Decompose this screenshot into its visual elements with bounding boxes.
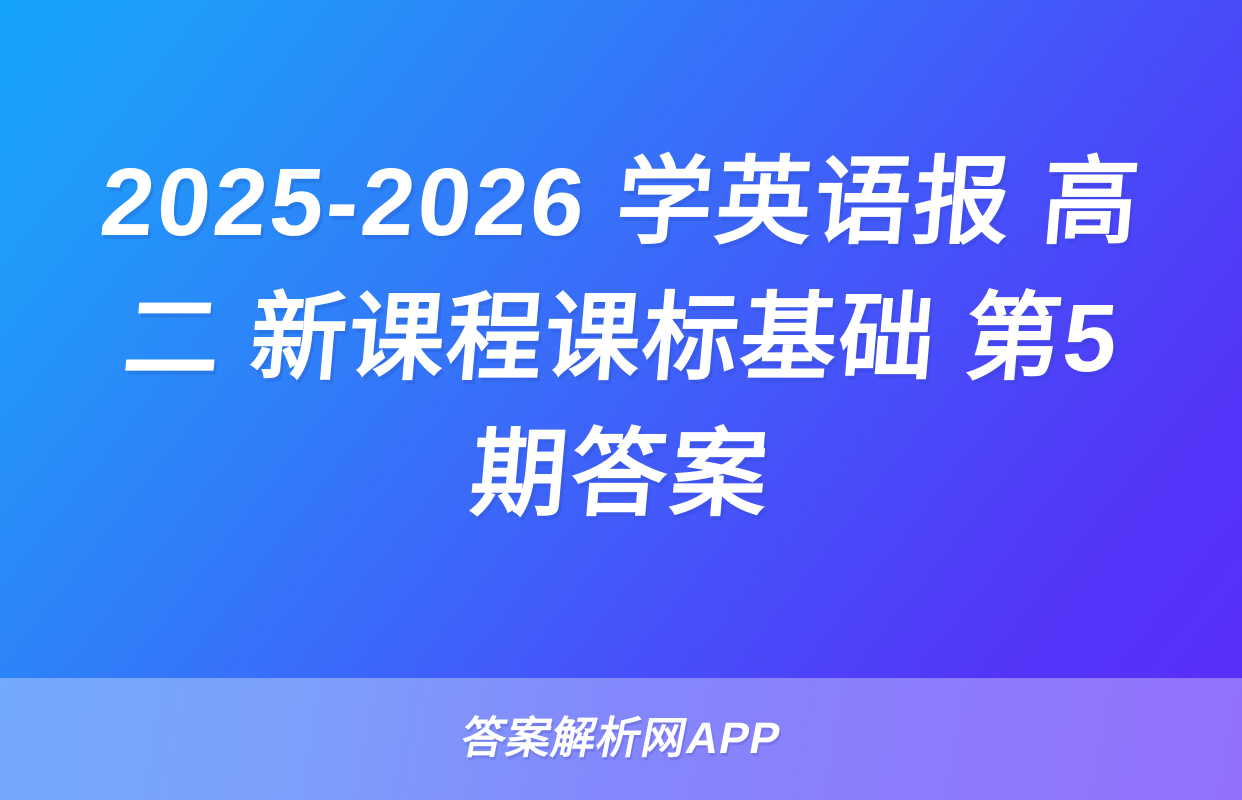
banner-title-line-1: 2025-2026 学英语报 高 [95, 135, 1147, 271]
banner-title-block: 2025-2026 学英语报 高 二 新课程课标基础 第5 期答案 [0, 0, 1242, 678]
banner-footer-band: 答案解析网APP [0, 678, 1242, 800]
banner-title-line-2: 二 新课程课标基础 第5 [118, 271, 1125, 407]
promo-banner: 2025-2026 学英语报 高 二 新课程课标基础 第5 期答案 答案解析网A… [0, 0, 1242, 800]
banner-title-line-3: 期答案 [465, 407, 777, 543]
app-watermark-label: 答案解析网APP [457, 717, 784, 761]
